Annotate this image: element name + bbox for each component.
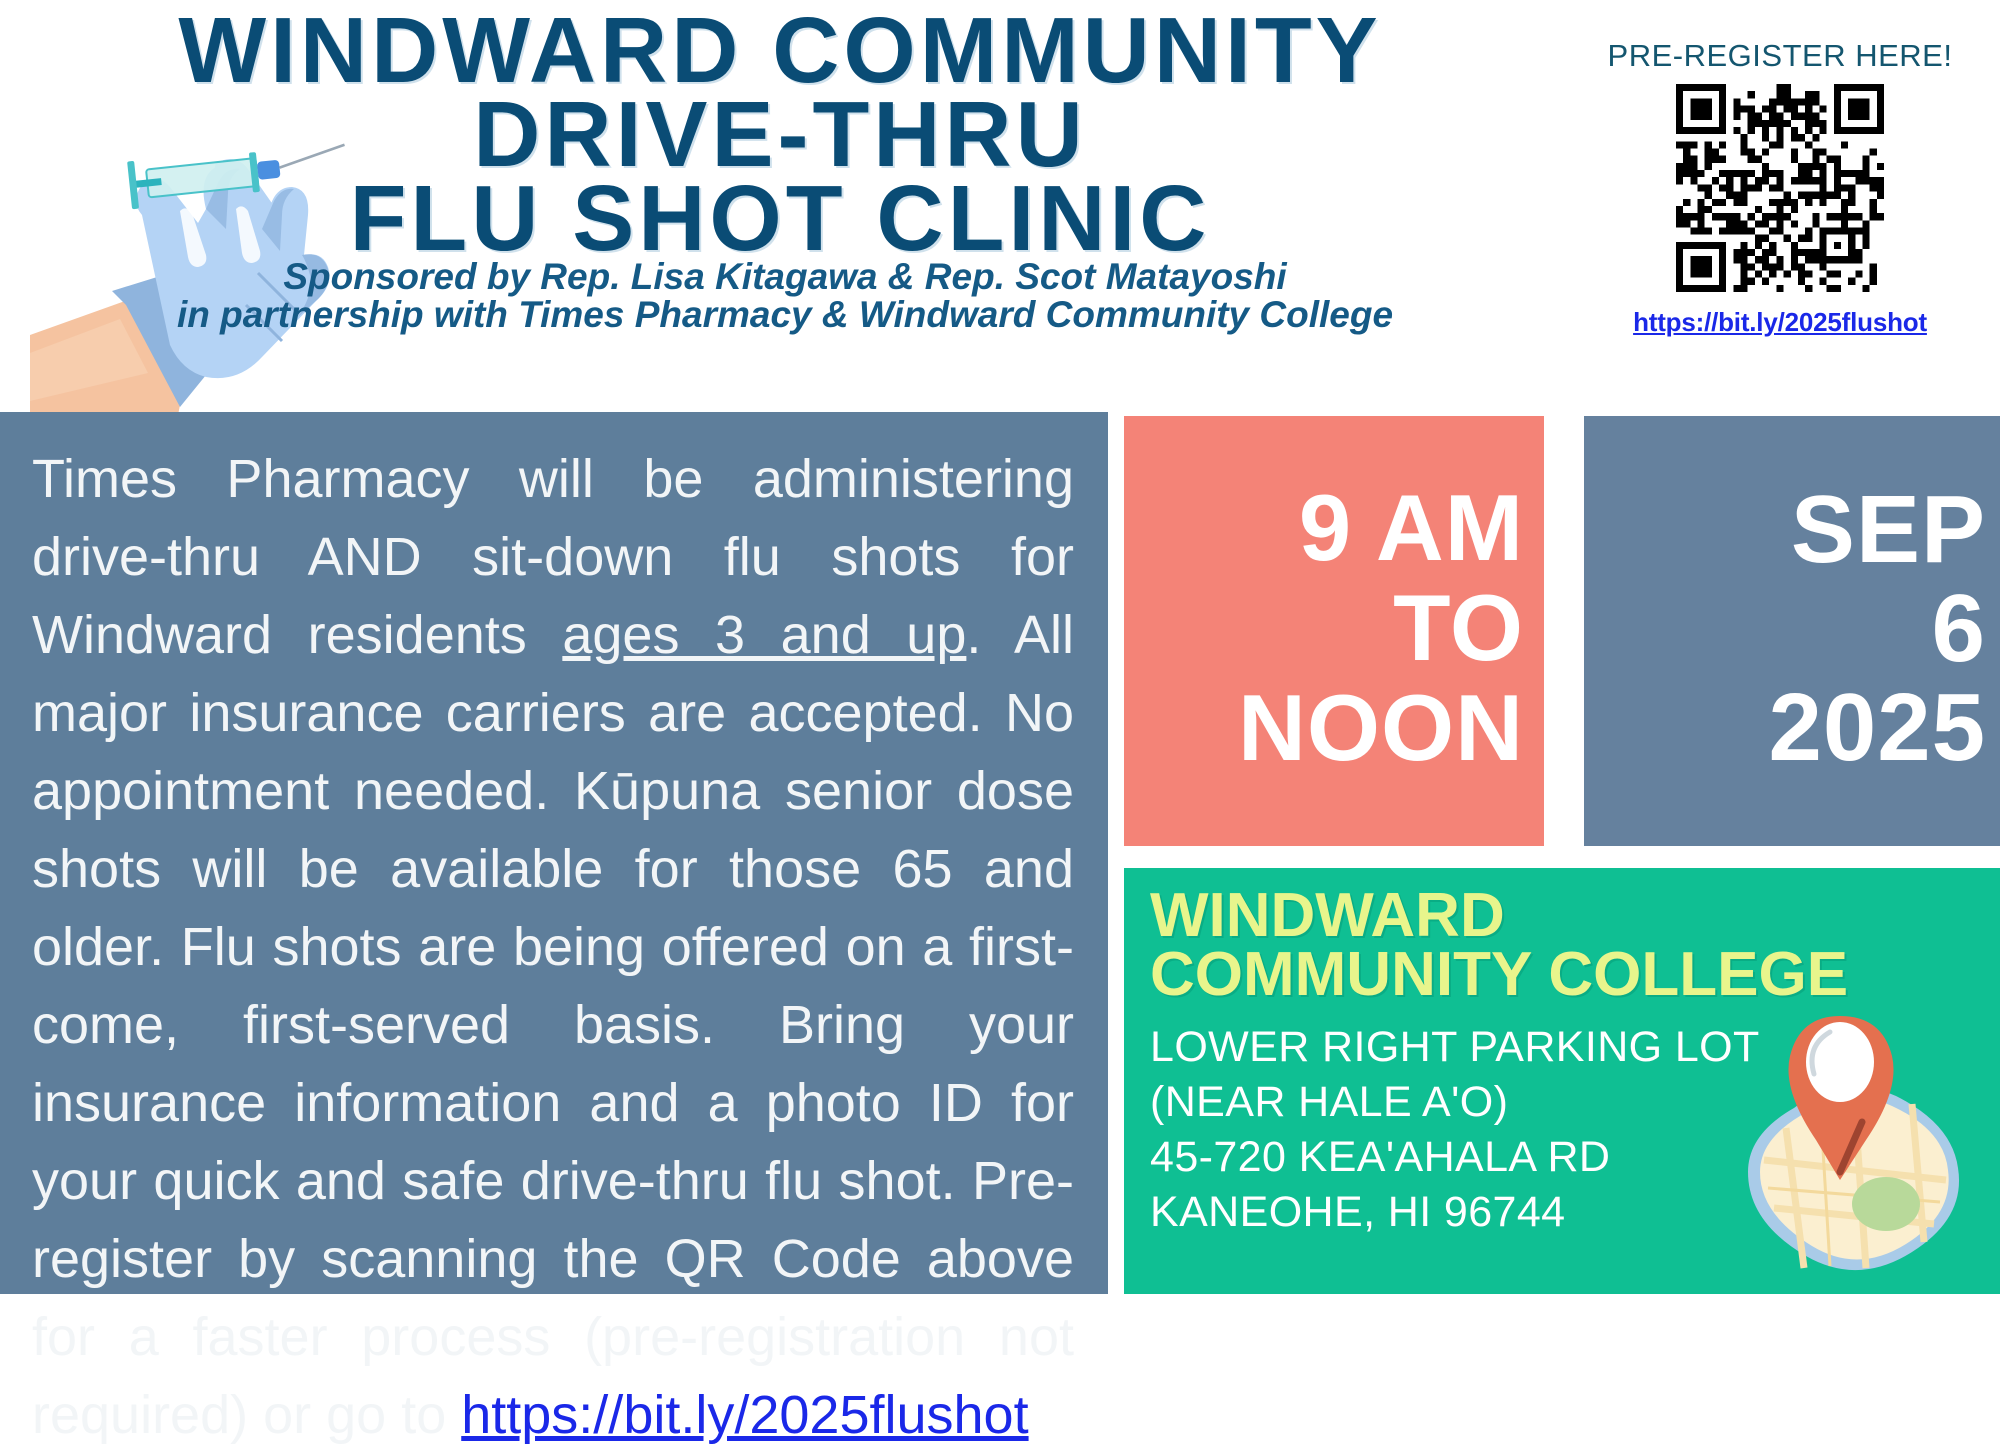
pre-register-qr-block: PRE-REGISTER HERE! https://bit.ly/2025fl… [1560,38,2000,338]
venue-line-1: WINDWARD [1150,886,2000,945]
clinic-time-box: 9 AM TO NOON [1124,416,1544,846]
title-line-2: DRIVE-THRU [120,92,1440,176]
description-link[interactable]: https://bit.ly/2025flushot [461,1385,1028,1445]
description-text: Times Pharmacy will be administering dri… [32,440,1074,1454]
header-banner: WINDWARD COMMUNITY DRIVE-THRU FLU SHOT C… [0,0,2000,412]
title-line-1: WINDWARD COMMUNITY [120,8,1440,92]
qr-heading: PRE-REGISTER HERE! [1560,38,2000,74]
qr-code-icon[interactable] [1676,84,1884,292]
description-part-2: . All major insurance carriers are accep… [32,605,1074,1445]
time-line-2: TO [1393,578,1524,678]
date-line-3: 2025 [1768,678,1986,777]
sponsor-credit: Sponsored by Rep. Lisa Kitagawa & Rep. S… [140,258,1430,334]
clinic-date-box: SEP 6 2025 [1584,416,2000,846]
description-underlined-ages: ages 3 and up [562,605,966,665]
date-line-2: 6 [1932,579,1986,678]
clinic-location-box: WINDWARD COMMUNITY COLLEGE LOWER RIGHT P… [1124,868,2000,1294]
sponsor-line-2: in partnership with Times Pharmacy & Win… [140,296,1430,334]
time-line-3: NOON [1238,678,1524,778]
title-line-3: FLU SHOT CLINIC [120,176,1440,260]
description-panel: Times Pharmacy will be administering dri… [0,412,1108,1294]
date-line-1: SEP [1791,480,1986,579]
qr-url-link[interactable]: https://bit.ly/2025flushot [1560,307,2000,338]
venue-line-2: COMMUNITY COLLEGE [1150,945,2000,1004]
sponsor-line-1: Sponsored by Rep. Lisa Kitagawa & Rep. S… [140,258,1430,296]
time-line-1: 9 AM [1299,478,1524,578]
page-title: WINDWARD COMMUNITY DRIVE-THRU FLU SHOT C… [120,8,1440,260]
map-location-pin-icon [1690,1000,1990,1280]
